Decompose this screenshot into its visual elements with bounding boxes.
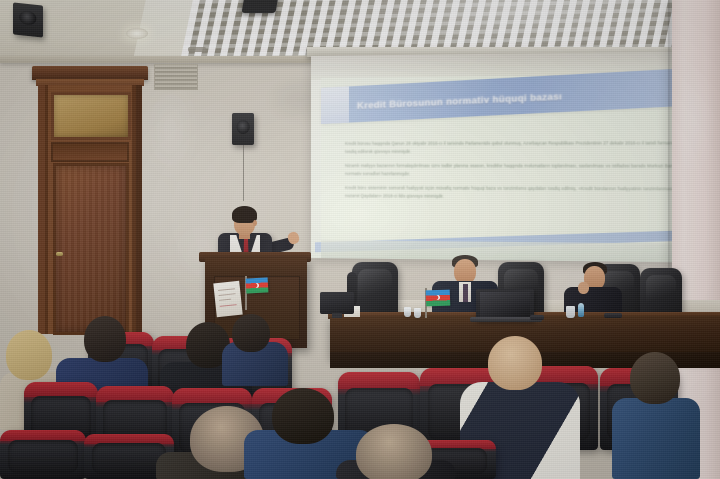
conference-hall-photo: Kredit Bürosunun normativ hüquqi bazası … [0,0,720,479]
door-panel-top [51,142,129,162]
speaker-cable [243,145,244,201]
flag-crescent-icon [435,295,440,300]
downlight-icon [126,28,148,39]
seat-pad [8,440,79,473]
water-bottle [578,303,584,317]
water-glass [566,306,575,318]
door-handle-icon[interactable] [56,252,63,256]
speaker-icon [13,2,43,37]
audience-head-bald [488,336,542,390]
wooden-door[interactable] [38,66,142,334]
water-glass [404,307,411,317]
audience-shoulders [612,398,700,479]
slide-paragraph: Kredit büro sisteminin səmərəli fəaliyyə… [345,184,679,202]
audience-head-balding [356,424,432,479]
slide-body: Kredit bürosu haqqında Qanun 28 oktyabr … [345,139,679,207]
ceiling-vent [188,47,206,52]
slide-banner-notch [321,86,349,124]
podium-papers [213,281,242,318]
door-crown-molding [32,66,148,80]
speaker-icon [232,113,254,145]
seat-pad [92,443,166,474]
panelist-hand [578,282,589,294]
panelist-tie [463,284,468,302]
speaker-cone [19,10,36,26]
microphone-icon[interactable] [530,315,544,320]
monitor-icon [320,292,354,314]
presentation-slide: Kredit Bürosunun normativ hüquqi bazası … [321,74,694,262]
auditorium-seat[interactable] [0,430,86,479]
flag-crescent-icon [254,283,259,288]
microphone-icon[interactable] [604,313,622,318]
door-transom-window [51,92,131,140]
audience-head [630,352,680,404]
paper-line [218,288,235,291]
door-panel-main [53,163,129,335]
monitor-stand [332,313,342,318]
paper-line [219,293,236,296]
paper-line [220,304,237,307]
seat-crown [172,388,252,404]
seat-crown [338,372,420,389]
audience-head-blonde [6,330,52,380]
audience-head [84,316,126,362]
presenter-ear [253,220,257,226]
water-glass [414,308,421,318]
audience-head [272,388,334,444]
slide-paragraph: Kredit bürosu haqqında Qanun 28 oktyabr … [345,139,679,156]
projector-icon [242,0,279,13]
paper-line [219,299,231,301]
slide-paragraph: Nizamlı maliyyə bazarının formalaşdırılm… [345,162,679,179]
audience-head [232,314,270,352]
wall-air-vent [154,64,198,90]
speaker-cone [237,120,250,134]
projection-screen: Kredit Bürosunun normativ hüquqi bazası … [311,51,694,262]
